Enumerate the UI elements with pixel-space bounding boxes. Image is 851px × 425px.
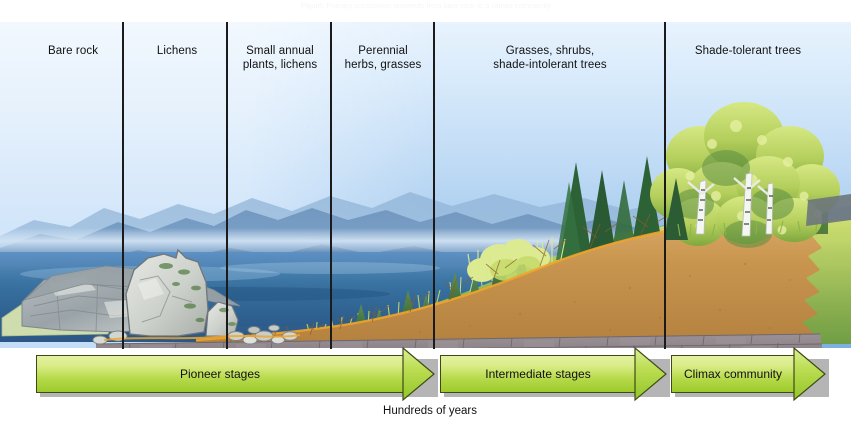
shade-tolerant-forest bbox=[650, 102, 851, 248]
column-divider-1-overlay bbox=[122, 22, 124, 349]
stage-arrow-climax[interactable]: Climax community bbox=[671, 355, 825, 393]
arrow-head bbox=[403, 348, 433, 400]
column-label-line: Perennial bbox=[336, 45, 430, 59]
arrow-label: Climax community bbox=[671, 355, 795, 393]
column-divider-3-overlay bbox=[330, 22, 332, 349]
column-label-small-annuals: Small annual plants, lichens bbox=[232, 45, 328, 72]
column-divider-5-overlay bbox=[664, 22, 666, 349]
column-label-line: shade-intolerant trees bbox=[438, 59, 662, 73]
column-label-line: Shade-tolerant trees bbox=[668, 45, 828, 59]
arrow-label: Intermediate stages bbox=[440, 355, 636, 393]
column-label-line: Lichens bbox=[132, 45, 222, 59]
lichen-boulder bbox=[126, 250, 238, 336]
arrow-label: Pioneer stages bbox=[36, 355, 404, 393]
column-divider-2-overlay bbox=[226, 22, 228, 349]
column-label-perennials: Perennial herbs, grasses bbox=[336, 45, 430, 72]
stage-arrow-intermediate[interactable]: Intermediate stages bbox=[440, 355, 666, 393]
column-label-line: Bare rock bbox=[28, 45, 118, 59]
figure-canvas: Figure: Primary succession proceeds from… bbox=[0, 0, 851, 425]
column-label-line: Small annual bbox=[232, 45, 328, 59]
column-label-grasses-shrubs: Grasses, shrubs, shade-intolerant trees bbox=[438, 45, 662, 72]
timescale-label: Hundreds of years bbox=[355, 405, 505, 417]
arrow-head bbox=[635, 348, 665, 400]
column-label-line: herbs, grasses bbox=[336, 59, 430, 73]
column-label-line: plants, lichens bbox=[232, 59, 328, 73]
stage-arrow-pioneer[interactable]: Pioneer stages bbox=[36, 355, 434, 393]
column-label-line: Grasses, shrubs, bbox=[438, 45, 662, 59]
column-label-lichens: Lichens bbox=[132, 45, 222, 59]
column-label-bare-rock: Bare rock bbox=[28, 45, 118, 59]
column-label-shade-tolerant: Shade-tolerant trees bbox=[668, 45, 828, 59]
column-divider-4-overlay bbox=[433, 22, 435, 349]
arrow-head bbox=[794, 348, 824, 400]
figure-caption-clipped: Figure: Primary succession proceeds from… bbox=[186, 1, 666, 10]
ground-cross-section bbox=[0, 44, 851, 348]
